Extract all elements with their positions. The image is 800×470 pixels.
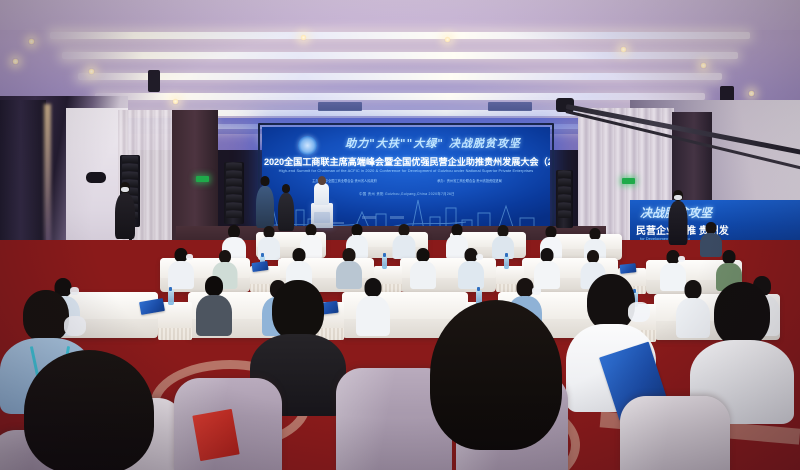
exit-sign-right <box>622 178 635 184</box>
speaker-head <box>318 176 326 185</box>
camera-operator <box>254 176 276 232</box>
water-bottle <box>504 256 509 269</box>
speaker-torso <box>314 183 329 205</box>
staff-right-aisle <box>666 190 690 250</box>
audience-person <box>458 248 484 288</box>
screen-title-english: High-end Summit for Chairman of the ACFI… <box>272 168 540 173</box>
audience-person <box>356 278 390 334</box>
ceiling-downlight <box>300 34 307 41</box>
red-conference-folder <box>192 409 239 461</box>
screen-calligraphy-headline: 助力"大扶""大绿" 决战脱贫攻坚 <box>328 135 538 151</box>
exit-sign-left <box>196 176 209 182</box>
ceiling-downlight <box>620 46 627 53</box>
ceiling-downlight <box>172 98 179 105</box>
ceiling-downlight <box>28 38 35 45</box>
line-array-speaker-right <box>224 162 244 224</box>
audience-person <box>410 248 436 288</box>
ceiling-panel-top <box>0 0 800 30</box>
ceiling-downlight <box>12 58 19 65</box>
ceiling-downlight <box>748 90 755 97</box>
ceiling-light-strip <box>62 52 738 59</box>
staff-left-aisle <box>112 182 138 244</box>
ceiling-downlight <box>88 68 95 75</box>
main-led-screen: 助力"大扶""大绿" 决战脱贫攻坚 2020全国工商联主席高端峰会暨全国优强民营… <box>262 127 550 230</box>
ceiling-light-strip <box>50 32 750 39</box>
screen-date-line: 中国 贵州 贵阳 Guizhou,Guiyang,China 2020年7月26… <box>302 191 512 196</box>
ceiling-light-strip <box>78 73 722 80</box>
screen-title-chinese: 2020全国工商联主席高端峰会暨全国优强民营企业助推贵州发展大会（2020贵商大… <box>264 154 548 168</box>
ceiling-downlight <box>700 62 707 69</box>
audience-person <box>168 248 194 288</box>
audience-person-foreground <box>430 300 562 470</box>
water-bottle <box>382 256 387 269</box>
audience-person <box>196 276 232 334</box>
wall-speaker <box>86 172 106 183</box>
banquet-chair <box>620 396 730 470</box>
acfic-emblem-icon <box>298 136 317 155</box>
ceiling-air-vent <box>318 102 362 111</box>
ceiling-projector <box>148 70 160 92</box>
ceiling-air-vent <box>488 102 532 111</box>
conference-hall-photo: 助力"大扶""大绿" 决战脱贫攻坚 2020全国工商联主席高端峰会暨全国优强民营… <box>0 0 800 470</box>
screen-credit-organizer: 承办：贵州省工商业联合会 贵州省投资促进局 <box>437 178 502 183</box>
left-wall-light-cove <box>44 104 51 254</box>
podium-front-panel <box>314 212 330 223</box>
conference-folder <box>620 263 637 274</box>
water-bottle <box>168 290 174 305</box>
line-array-speaker-stage-right <box>556 170 573 228</box>
audience-person <box>492 225 514 258</box>
audience-person-foreground <box>24 350 154 470</box>
ceiling-downlight <box>444 36 451 43</box>
ceiling-light-strip <box>95 93 705 100</box>
